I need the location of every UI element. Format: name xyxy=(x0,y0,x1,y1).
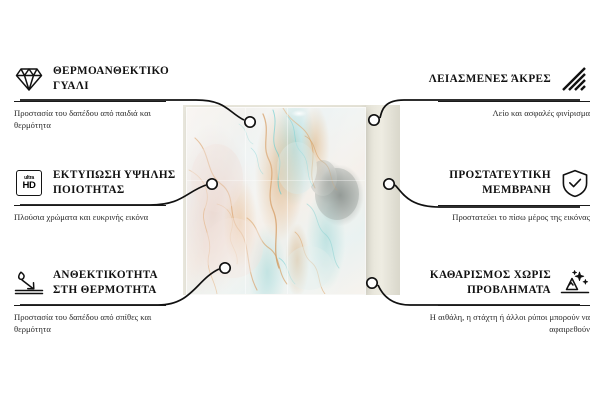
feature-block-easy-cleaning: ΚΑΘΑΡΙΣΜΟΣ ΧΩΡΙΣ ΠΡΟΒΛΗΜΑΤΑ Η αιθάλη, η … xyxy=(420,266,590,335)
diamond-icon xyxy=(14,64,44,94)
feature-block-protective-membrane: ΠΡΟΣΤΑΤΕΥΤΙΚΗ ΜΕΜΒΡΑΝΗ Προστατεύει το πί… xyxy=(420,166,590,223)
product-image xyxy=(183,105,400,295)
feature-divider xyxy=(438,205,590,206)
infographic-canvas: ΘΕΡΜΟΑΝΘΕΚΤΙΚΟ ΓΥΑΛΙ Προστασία του δαπέδ… xyxy=(0,0,600,400)
feature-block-high-quality-print: ultra HD ΕΚΤΥΠΩΣΗ ΥΨΗΛΗΣ ΠΟΙΟΤΗΤΑΣ Πλούσ… xyxy=(14,166,184,223)
wall-right-edge xyxy=(366,105,400,295)
feature-divider xyxy=(438,305,590,306)
feature-heading: ultra HD ΕΚΤΥΠΩΣΗ ΥΨΗΛΗΣ ΠΟΙΟΤΗΤΑΣ xyxy=(14,166,184,200)
feature-divider xyxy=(14,101,166,102)
feature-title: ΛΕΙΑΣΜΕΝΕΣ ΆΚΡΕΣ xyxy=(429,72,551,87)
feature-title: ΘΕΡΜΟΑΝΘΕΚΤΙΚΟ ΓΥΑΛΙ xyxy=(53,64,184,94)
polished-edges-icon xyxy=(560,64,590,94)
feature-subtitle: Λείο και ασφαλές φινίρισμα xyxy=(420,107,590,119)
glass-reflection-line xyxy=(287,108,288,294)
feature-block-heat-resistance: ΑΝΘΕΚΤΙΚΟΤΗΤΑ ΣΤΗ ΘΕΡΜΟΤΗΤΑ Προστασία το… xyxy=(14,266,184,335)
feature-heading: ΑΝΘΕΚΤΙΚΟΤΗΤΑ ΣΤΗ ΘΕΡΜΟΤΗΤΑ xyxy=(14,266,184,300)
feature-block-polished-edges: ΛΕΙΑΣΜΕΝΕΣ ΆΚΡΕΣ Λείο και ασφαλές φινίρι… xyxy=(420,62,590,119)
glass-panel xyxy=(187,108,365,294)
feature-heading: ΘΕΡΜΟΑΝΘΕΚΤΙΚΟ ΓΥΑΛΙ xyxy=(14,62,184,96)
shield-check-icon xyxy=(560,168,590,198)
feature-heading: ΠΡΟΣΤΑΤΕΥΤΙΚΗ ΜΕΜΒΡΑΝΗ xyxy=(420,166,590,200)
ultra-hd-label-bottom: HD xyxy=(22,181,35,191)
feature-title: ΑΝΘΕΚΤΙΚΟΤΗΤΑ ΣΤΗ ΘΕΡΜΟΤΗΤΑ xyxy=(53,268,184,298)
feature-title: ΕΚΤΥΠΩΣΗ ΥΨΗΛΗΣ ΠΟΙΟΤΗΤΑΣ xyxy=(53,168,184,198)
feature-subtitle: Προστασία του δαπέδου από παιδιά και θερ… xyxy=(14,107,184,131)
marble-veins xyxy=(187,108,365,294)
feature-block-thermoresistant-glass: ΘΕΡΜΟΑΝΘΕΚΤΙΚΟ ΓΥΑΛΙ Προστασία του δαπέδ… xyxy=(14,62,184,131)
flame-deflect-icon xyxy=(14,268,44,298)
ultra-hd-badge-icon: ultra HD xyxy=(14,168,44,198)
sparkle-clean-icon xyxy=(560,268,590,298)
feature-subtitle: Προστασία του δαπέδου από σπίθες και θερ… xyxy=(14,311,184,335)
feature-subtitle: Η αιθάλη, η στάχτη ή άλλοι ρύποι μπορούν… xyxy=(420,311,590,335)
glass-glint xyxy=(291,110,307,117)
feature-divider xyxy=(438,101,590,102)
feature-divider xyxy=(14,305,166,306)
feature-subtitle: Προστατεύει το πίσω μέρος της εικόνας xyxy=(420,211,590,223)
feature-title: ΚΑΘΑΡΙΣΜΟΣ ΧΩΡΙΣ ΠΡΟΒΛΗΜΑΤΑ xyxy=(420,268,551,298)
feature-heading: ΚΑΘΑΡΙΣΜΟΣ ΧΩΡΙΣ ΠΡΟΒΛΗΜΑΤΑ xyxy=(420,266,590,300)
feature-title: ΠΡΟΣΤΑΤΕΥΤΙΚΗ ΜΕΜΒΡΑΝΗ xyxy=(420,168,551,198)
feature-heading: ΛΕΙΑΣΜΕΝΕΣ ΆΚΡΕΣ xyxy=(420,62,590,96)
feature-subtitle: Πλούσια χρώματα και ευκρινής εικόνα xyxy=(14,211,184,223)
feature-divider xyxy=(14,205,166,206)
glass-reflection-line xyxy=(187,180,365,181)
glass-reflection-line xyxy=(245,108,246,294)
